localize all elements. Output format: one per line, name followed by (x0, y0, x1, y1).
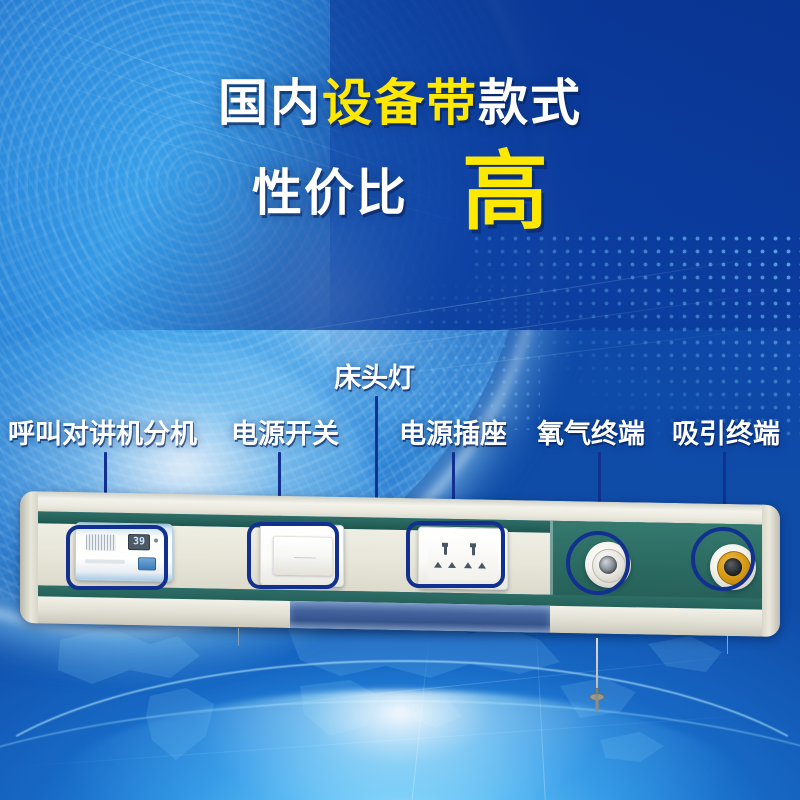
cord-right (727, 630, 728, 654)
highlight-circle-oxygen (566, 531, 630, 595)
headline-line-1: 国内设备带款式 (0, 78, 800, 128)
headline-big-char: 高 (462, 154, 548, 231)
callout-label-oxygen: 氧气终端 (537, 412, 645, 451)
headline-part-1: 国内 (218, 74, 322, 132)
bed-lamp[interactable] (290, 601, 550, 633)
headline-part-2: 款式 (478, 74, 582, 132)
callout-label-bedlamp: 床头灯 (334, 356, 415, 395)
panel-end-cap-right (762, 505, 780, 637)
callout-label-intercom: 呼叫对讲机分机 (8, 412, 197, 451)
headline: 国内设备带款式 性价比 高 (0, 78, 800, 231)
callout-label-switch: 电源开关 (231, 412, 339, 451)
headline-line-2: 性价比 高 (0, 154, 800, 231)
highlight-box-switch (247, 522, 339, 589)
promo-banner: 国内设备带款式 性价比 高 呼叫对讲机分机 电源开关 床头灯 电源插座 氧气终端… (0, 0, 800, 800)
highlight-circle-suction (691, 527, 755, 591)
highlight-box-socket (406, 521, 505, 588)
hanging-hook-icon (585, 688, 609, 714)
halftone-dots-secondary (330, 280, 540, 430)
headline-highlight: 设备带 (322, 74, 478, 132)
panel-gas-section-edge (550, 521, 553, 606)
cord-left (238, 628, 239, 646)
headline-subtext: 性价比 (252, 168, 408, 218)
panel-end-cap-left (20, 491, 38, 623)
callout-label-socket: 电源插座 (399, 412, 507, 451)
highlight-box-intercom (66, 525, 168, 590)
callout-label-suction: 吸引终端 (672, 412, 780, 451)
